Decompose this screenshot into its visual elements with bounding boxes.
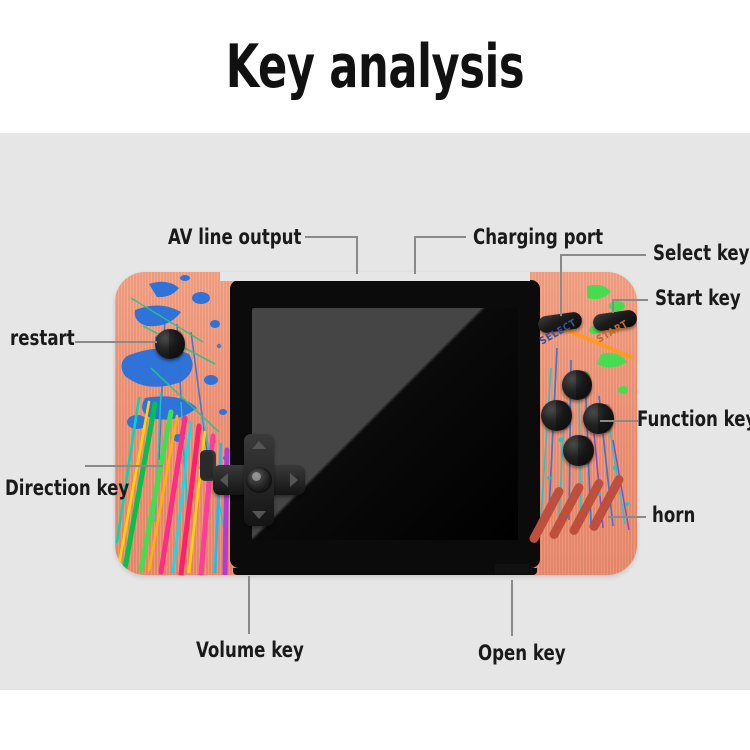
open-key-switch[interactable]	[495, 564, 529, 573]
dpad-right-arrow-icon	[290, 473, 298, 487]
function-key-left[interactable]	[541, 400, 572, 431]
leader-charging-port-v	[414, 236, 416, 274]
direction-key-dpad[interactable]	[213, 434, 305, 526]
dpad-center-hub[interactable]	[246, 467, 272, 493]
leader-av-line-output-v	[356, 236, 358, 274]
bottom-bezel-strip	[233, 568, 537, 575]
leader-horn-h	[608, 516, 646, 518]
leader-select-key-h	[560, 254, 646, 256]
callout-label-start-key: Start key	[655, 288, 741, 309]
horn-speaker-slots	[540, 480, 635, 550]
dpad-down-arrow-icon	[252, 511, 266, 519]
function-key-top[interactable]	[562, 370, 592, 400]
callout-label-function-key: Function key	[637, 409, 750, 430]
function-key-bottom[interactable]	[563, 435, 594, 466]
leader-charging-port-h	[414, 236, 466, 238]
callout-label-charging-port: Charging port	[473, 227, 603, 248]
leader-open-key-v	[511, 580, 513, 636]
leader-function-key-h	[600, 420, 638, 422]
footer-band	[0, 690, 750, 750]
dpad-left-arrow-icon	[220, 473, 228, 487]
diagram-root: Key analysis	[0, 0, 750, 750]
callout-label-open-key: Open key	[478, 643, 566, 664]
callout-label-direction-key: Direction key	[5, 478, 129, 499]
top-edge-step	[220, 272, 530, 281]
page-title: Key analysis	[75, 36, 675, 99]
leader-direction-key-h	[85, 465, 163, 467]
callout-label-horn: horn	[652, 505, 695, 526]
leader-restart-h	[75, 341, 157, 343]
callout-label-av-line-output: AV line output	[168, 227, 301, 248]
leader-volume-key-v	[248, 576, 250, 634]
callout-label-select-key: Select key	[653, 243, 749, 264]
function-key-right[interactable]	[583, 403, 614, 434]
paint-splatter-left	[115, 272, 245, 575]
callout-label-volume-key: Volume key	[196, 640, 304, 661]
leader-select-key-v	[560, 254, 562, 316]
leader-av-line-output-h	[305, 236, 357, 238]
dpad-up-arrow-icon	[252, 441, 266, 449]
game-console-body: SELECT START	[115, 272, 637, 575]
leader-start-key-v	[612, 299, 614, 313]
callout-label-restart: restart	[10, 328, 75, 349]
restart-button[interactable]	[155, 329, 185, 359]
leader-start-key-h	[612, 299, 648, 301]
